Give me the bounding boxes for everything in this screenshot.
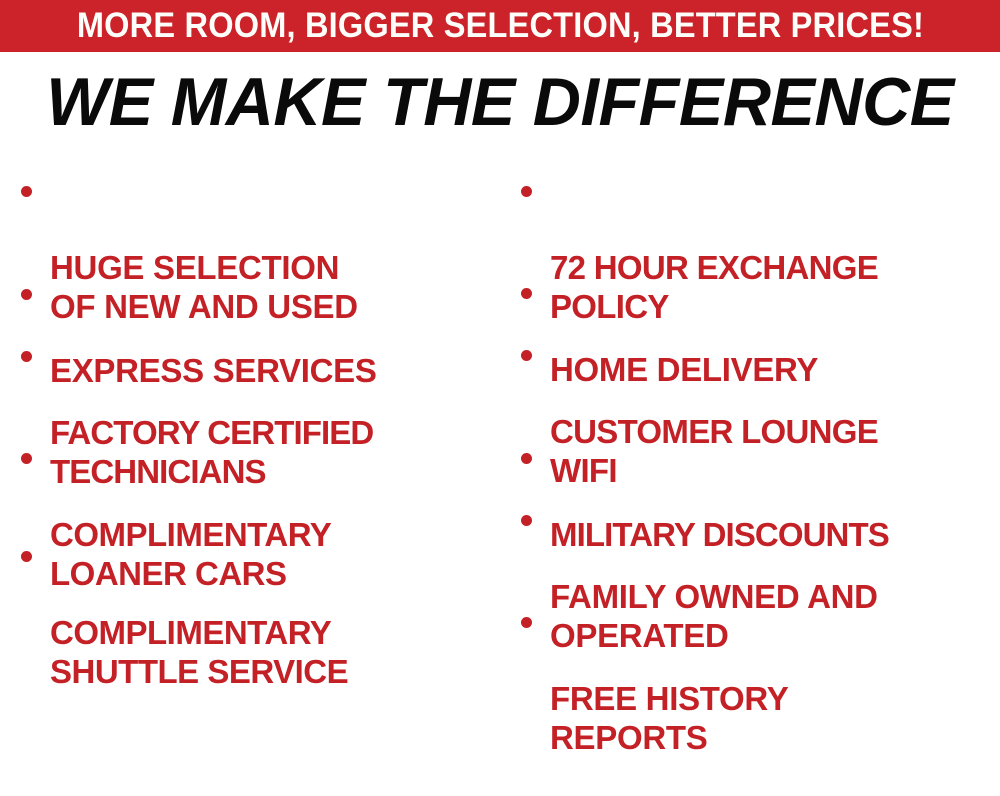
bullet-dot-icon xyxy=(521,515,532,526)
list-item-label: COMPLIMENTARY SHUTTLE SERVICE xyxy=(50,613,500,691)
list-item: COMPLIMENTARY SHUTTLE SERVICE xyxy=(0,535,500,730)
features-column-right: 72 HOUR EXCHANGE POLICY HOME DELIVERY CU… xyxy=(500,160,1000,694)
bullet-dot-icon xyxy=(21,186,32,197)
promo-banner: MORE ROOM, BIGGER SELECTION, BETTER PRIC… xyxy=(0,0,1000,52)
bullet-dot-icon xyxy=(521,186,532,197)
bullet-dot-icon xyxy=(21,351,32,362)
bullet-dot-icon xyxy=(521,617,532,628)
list-item: FREE HISTORY REPORTS xyxy=(500,601,1000,796)
bullet-dot-icon xyxy=(521,288,532,299)
bullet-dot-icon xyxy=(21,289,32,300)
features-column-left: HUGE SELECTION OF NEW AND USED EXPRESS S… xyxy=(0,160,500,694)
list-item-label: FREE HISTORY REPORTS xyxy=(550,679,1000,757)
bullet-dot-icon xyxy=(521,350,532,361)
page-title: WE MAKE THE DIFFERENCE xyxy=(10,70,990,134)
features-columns: HUGE SELECTION OF NEW AND USED EXPRESS S… xyxy=(0,160,1000,694)
bullet-dot-icon xyxy=(21,551,32,562)
bullet-dot-icon xyxy=(21,453,32,464)
bullet-dot-icon xyxy=(521,453,532,464)
promo-banner-text: MORE ROOM, BIGGER SELECTION, BETTER PRIC… xyxy=(76,8,923,45)
